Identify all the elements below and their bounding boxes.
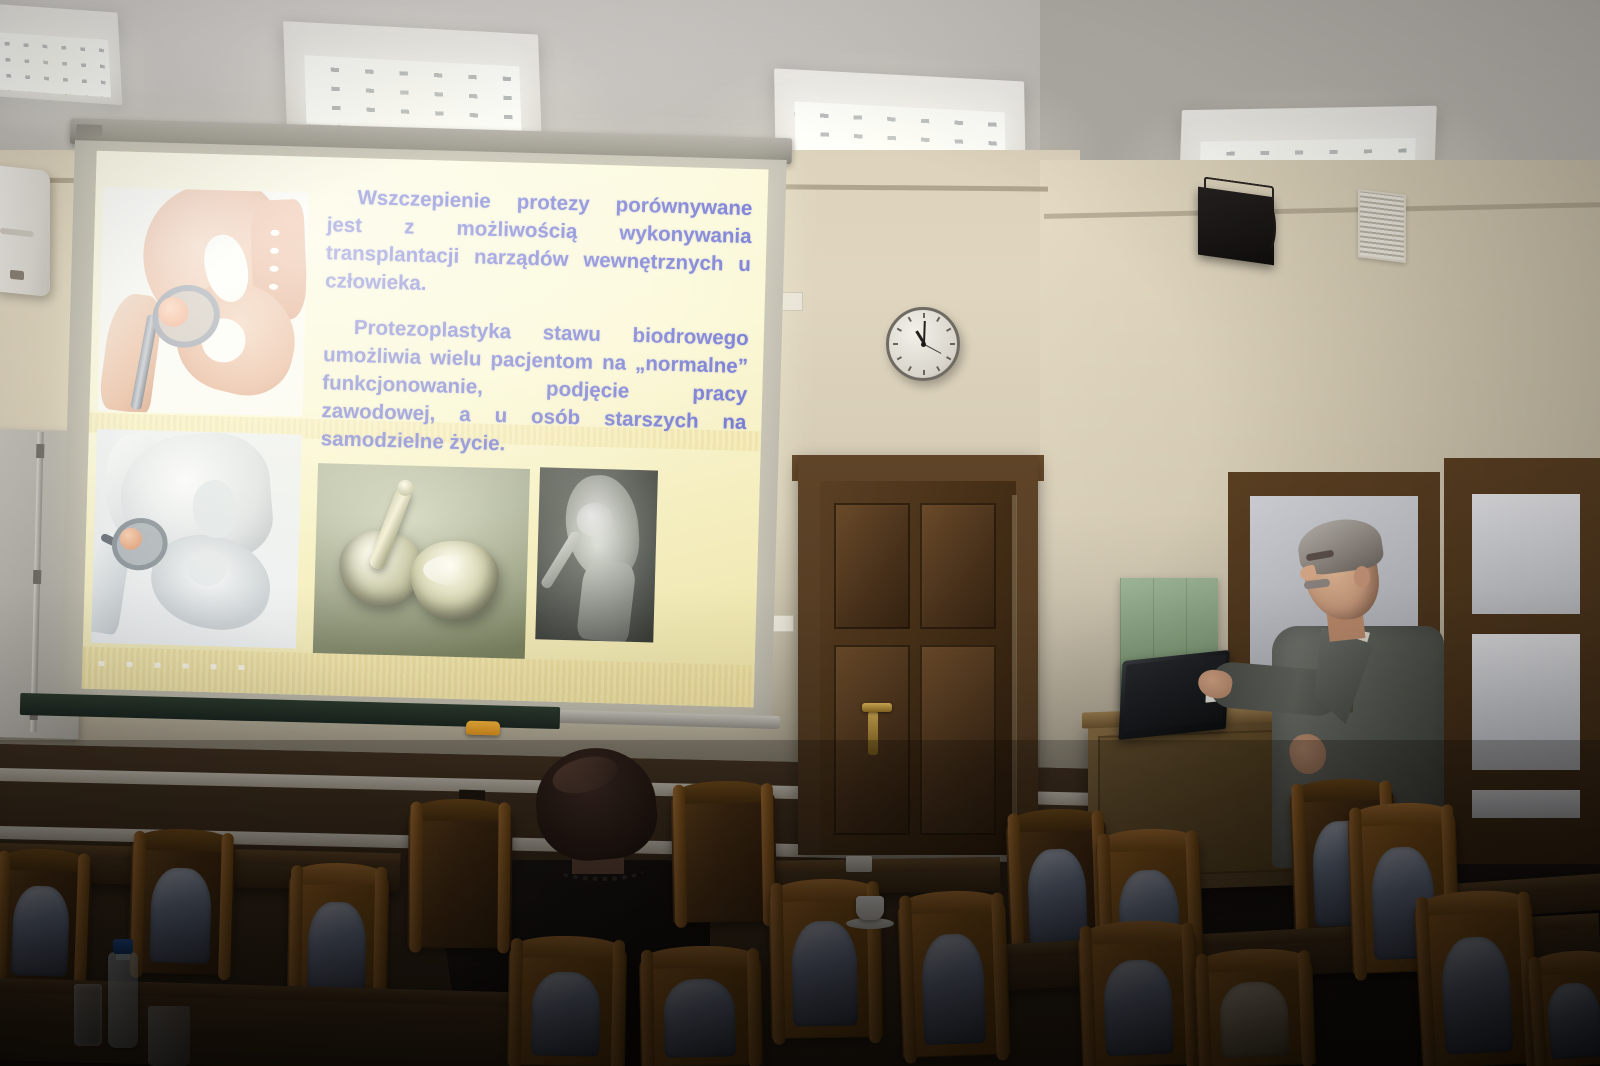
slide-image-pelvis-model xyxy=(91,429,302,649)
projection-screen-assembly: Wszczepienie protezy porównywane jest z … xyxy=(54,118,793,746)
slide-image-hip-xray xyxy=(535,467,658,642)
water-bottle[interactable] xyxy=(108,952,138,1048)
chair[interactable] xyxy=(507,944,627,1066)
ventilation-grille-icon xyxy=(1358,189,1406,263)
drinking-glass[interactable] xyxy=(74,984,102,1046)
door-handle[interactable] xyxy=(862,703,892,712)
lecture-hall-scene: Wszczepienie protezy porównywane jest z … xyxy=(0,0,1600,1066)
table-caddy xyxy=(846,856,872,872)
clock-second-hand xyxy=(923,344,941,354)
air-conditioner-unit xyxy=(0,165,50,297)
drinking-glass[interactable] xyxy=(148,1006,190,1066)
whiteboard-right-slat-2 xyxy=(1472,634,1580,770)
presentation-slide: Wszczepienie protezy porównywane jest z … xyxy=(82,151,769,708)
wall-clock xyxy=(886,307,960,381)
slide-paragraph-2: Protezoplastyka stawu biodrowego umożliw… xyxy=(320,313,749,465)
door-frame xyxy=(798,455,1038,855)
projection-screen-border: Wszczepienie protezy porównywane jest z … xyxy=(59,140,786,720)
chair[interactable] xyxy=(1414,897,1541,1066)
chair[interactable] xyxy=(639,954,763,1066)
projection-screen-surface: Wszczepienie protezy porównywane jest z … xyxy=(82,151,769,708)
chair[interactable] xyxy=(671,789,777,923)
slide-body-text: Wszczepienie protezy porównywane jest z … xyxy=(320,183,753,483)
whiteboard-right-slat-3 xyxy=(1472,790,1580,818)
slide-paragraph-1: Wszczepienie protezy porównywane jest z … xyxy=(325,183,753,307)
door-leaf[interactable] xyxy=(820,481,1016,855)
chair[interactable] xyxy=(407,808,512,949)
door-escutcheon xyxy=(868,711,878,755)
chair[interactable] xyxy=(128,837,236,976)
attendee-necklace xyxy=(558,860,644,881)
chair[interactable] xyxy=(0,856,92,987)
wall-speaker xyxy=(1198,187,1274,266)
chair[interactable] xyxy=(1194,956,1316,1066)
slide-image-hip-anatomy-illustration xyxy=(97,187,308,417)
coffee-cup xyxy=(856,896,884,920)
bottle-cap xyxy=(113,939,133,954)
chair[interactable] xyxy=(1526,957,1600,1066)
ceiling-light-fixture-1 xyxy=(0,3,122,105)
whiteboard-right-slat-1 xyxy=(1472,494,1580,614)
chair[interactable] xyxy=(1078,928,1201,1066)
clock-minute-hand xyxy=(923,321,926,344)
chair[interactable] xyxy=(897,898,1010,1058)
yellow-ledge-object xyxy=(466,721,500,736)
slide-image-prosthesis-components xyxy=(313,463,530,659)
